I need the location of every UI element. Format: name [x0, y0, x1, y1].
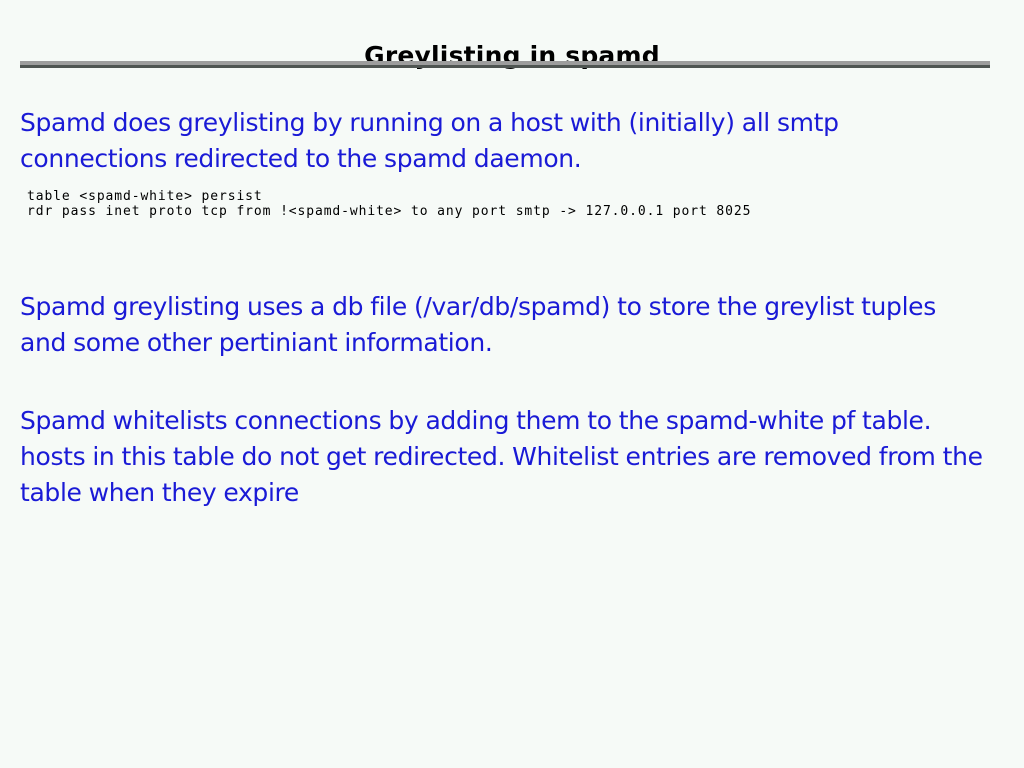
body-paragraph-1: Spamd does greylisting by running on a h…	[20, 105, 985, 177]
code-line-2: rdr pass inet proto tcp from !<spamd-whi…	[27, 204, 751, 219]
code-block: table <spamd-white> persistrdr pass inet…	[27, 189, 751, 219]
body-paragraph-3: Spamd whitelists connections by adding t…	[20, 403, 985, 511]
divider-shadow	[20, 65, 990, 68]
code-line-1: table <spamd-white> persist	[27, 189, 751, 204]
title-divider	[20, 61, 990, 68]
body-paragraph-2: Spamd greylisting uses a db file (/var/d…	[20, 289, 985, 361]
slide-canvas: Greylisting in spamd Spamd does greylist…	[0, 0, 1024, 768]
